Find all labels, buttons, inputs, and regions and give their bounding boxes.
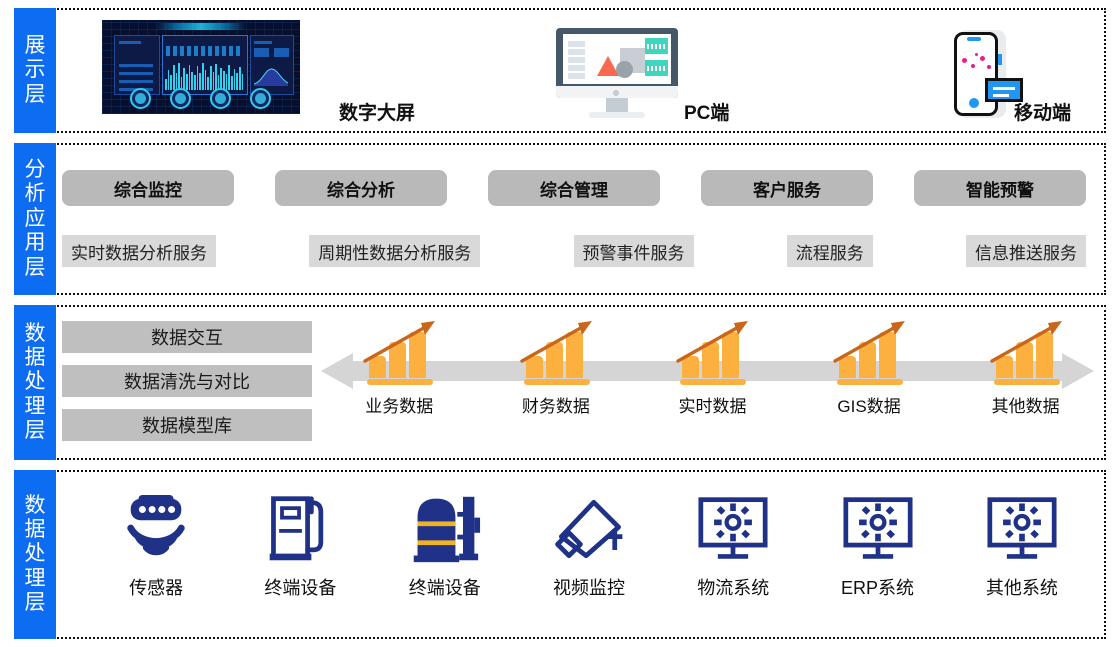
layer-band-source: 数 据 处 理 层 [14, 470, 56, 639]
analysis-app-4[interactable]: 客户服务 [701, 170, 873, 206]
band-char: 展 [25, 34, 46, 58]
display-item-label-bigscreen: 数字大屏 [339, 98, 415, 125]
source-item-6: ERP系统 [808, 486, 948, 600]
data-source-chart-label: 业务数据 [365, 392, 433, 417]
source-item-1: 传感器 [86, 486, 226, 600]
analysis-app-3[interactable]: 综合管理 [488, 170, 660, 206]
band-char: 用 [25, 231, 46, 255]
fuel-dispenser-icon [254, 486, 346, 572]
data-source-chart-4: GIS数据 [794, 315, 944, 417]
analysis-top-row: 综合监控综合分析综合管理客户服务智能预警 [44, 170, 1104, 206]
analysis-app-2[interactable]: 综合分析 [275, 170, 447, 206]
analysis-service-2[interactable]: 周期性数据分析服务 [309, 235, 480, 267]
band-char: 析 [25, 182, 46, 206]
source-item-label: 物流系统 [697, 574, 769, 600]
process-box-2[interactable]: 数据清洗与对比 [62, 365, 312, 397]
source-item-3: 终端设备 [375, 486, 515, 600]
data-source-chart-2: 财务数据 [481, 315, 631, 417]
layer-analysis: 综合监控综合分析综合管理客户服务智能预警 实时数据分析服务周期性数据分析服务预警… [14, 143, 1106, 295]
source-item-label: ERP系统 [841, 574, 914, 600]
desktop-monitor-icon [556, 28, 678, 118]
band-char: 据 [25, 346, 46, 370]
bar-chart-growth-icon [512, 315, 600, 389]
layer-display-body: 数字大屏 PC端 [42, 8, 1106, 133]
band-char: 分 [25, 158, 46, 182]
analysis-service-4[interactable]: 流程服务 [787, 235, 873, 267]
layer-source: 传感器 终端设备 终端设备 视频监控 [14, 470, 1106, 639]
layer-display: 数字大屏 PC端 [14, 8, 1106, 133]
monitor-gear-icon [832, 486, 924, 572]
band-char: 层 [25, 256, 46, 280]
data-source-chart-1: 业务数据 [324, 315, 474, 417]
bar-chart-growth-icon [825, 315, 913, 389]
source-item-2: 终端设备 [230, 486, 370, 600]
growth-arrow-icon [672, 317, 756, 373]
layer-source-body: 传感器 终端设备 终端设备 视频监控 [42, 470, 1106, 639]
analysis-service-3[interactable]: 预警事件服务 [574, 235, 694, 267]
trend-curve [254, 64, 288, 86]
source-item-label: 终端设备 [409, 574, 481, 600]
bar-chart-growth-icon [982, 315, 1070, 389]
dashboard-screen-icon [102, 20, 300, 114]
process-chart-list: 业务数据财务数据实时数据GIS数据其他数据 [321, 315, 1104, 455]
band-char: 应 [25, 207, 46, 231]
growth-arrow-icon [986, 317, 1070, 373]
analysis-service-1[interactable]: 实时数据分析服务 [62, 235, 216, 267]
layer-band-display: 展 示 层 [14, 8, 56, 133]
bar-chart-growth-icon [355, 315, 443, 389]
data-source-chart-label: 实时数据 [678, 392, 746, 417]
sensor-icon [110, 486, 202, 572]
process-box-3[interactable]: 数据模型库 [62, 409, 312, 441]
data-source-chart-5: 其他数据 [951, 315, 1101, 417]
data-source-chart-3: 实时数据 [637, 315, 787, 417]
source-item-5: 物流系统 [663, 486, 803, 600]
layer-band-analysis: 分 析 应 用 层 [14, 143, 56, 295]
cctv-camera-icon [543, 486, 635, 572]
source-item-label: 终端设备 [264, 574, 336, 600]
growth-arrow-icon [516, 317, 600, 373]
source-item-7: 其他系统 [952, 486, 1092, 600]
layer-process: 数据交互数据清洗与对比数据模型库 业务数据财务数据实时数据GIS数据其他数据 数… [14, 305, 1106, 460]
monitor-gear-icon [976, 486, 1068, 572]
source-item-label: 传感器 [129, 574, 183, 600]
source-item-label: 其他系统 [986, 574, 1058, 600]
display-item-label-pc: PC端 [684, 98, 729, 125]
display-item-label-mobile: 移动端 [1014, 98, 1071, 125]
storage-tank-icon [399, 486, 491, 572]
band-char: 理 [25, 395, 46, 419]
data-source-chart-label: 财务数据 [522, 392, 590, 417]
source-item-4: 视频监控 [519, 486, 659, 600]
band-char: 层 [25, 83, 46, 107]
band-char: 据 [25, 518, 46, 542]
analysis-service-5[interactable]: 信息推送服务 [966, 235, 1086, 267]
band-char: 数 [25, 322, 46, 346]
analysis-app-1[interactable]: 综合监控 [62, 170, 234, 206]
source-item-list: 传感器 终端设备 终端设备 视频监控 [84, 486, 1094, 626]
band-char: 层 [25, 419, 46, 443]
band-char: 理 [25, 567, 46, 591]
process-box-1[interactable]: 数据交互 [62, 321, 312, 353]
band-char: 处 [25, 542, 46, 566]
analysis-app-5[interactable]: 智能预警 [914, 170, 1086, 206]
layer-process-body: 数据交互数据清洗与对比数据模型库 业务数据财务数据实时数据GIS数据其他数据 [42, 305, 1106, 460]
band-char: 处 [25, 370, 46, 394]
growth-arrow-icon [359, 317, 443, 373]
source-item-label: 视频监控 [553, 574, 625, 600]
analysis-bottom-row: 实时数据分析服务周期性数据分析服务预警事件服务流程服务信息推送服务 [44, 235, 1104, 267]
layer-band-process: 数 据 处 理 层 [14, 305, 56, 460]
band-char: 数 [25, 494, 46, 518]
architecture-diagram: 数字大屏 PC端 [0, 0, 1120, 647]
layer-analysis-body: 综合监控综合分析综合管理客户服务智能预警 实时数据分析服务周期性数据分析服务预警… [42, 143, 1106, 295]
data-source-chart-label: 其他数据 [992, 392, 1060, 417]
process-box-list: 数据交互数据清洗与对比数据模型库 [62, 321, 312, 441]
band-char: 示 [25, 58, 46, 82]
monitor-gear-icon [687, 486, 779, 572]
band-char: 层 [25, 591, 46, 615]
bar-chart-growth-icon [668, 315, 756, 389]
growth-arrow-icon [829, 317, 913, 373]
data-source-chart-label: GIS数据 [837, 392, 900, 417]
